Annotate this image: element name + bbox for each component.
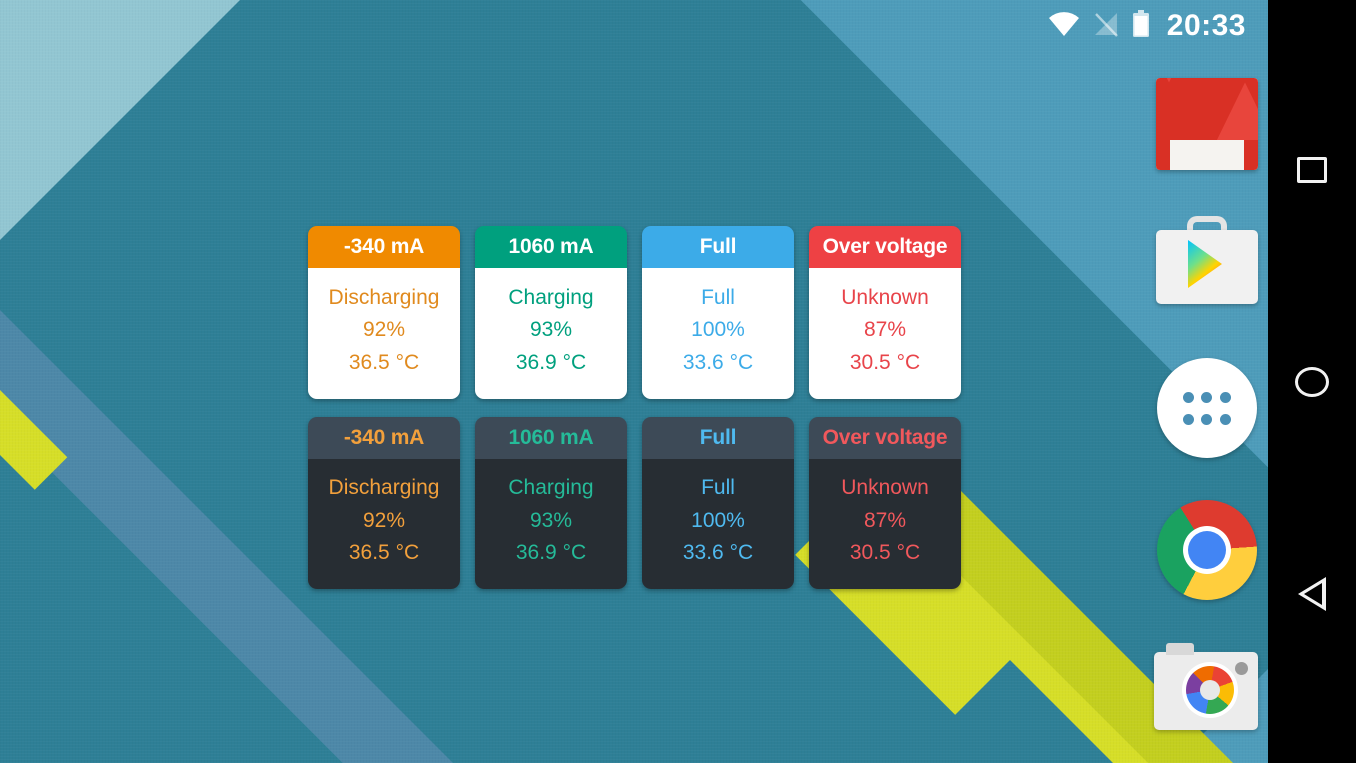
navigation-bar: [1268, 0, 1356, 763]
widget-status-text: Unknown: [841, 283, 929, 313]
widget-percent-text: 100%: [691, 315, 745, 345]
widget-header: -340 mA: [308, 226, 460, 268]
widget-temperature-text: 33.6 °C: [683, 348, 753, 378]
widget-discharging-light[interactable]: -340 mA Discharging 92% 36.5 °C: [308, 226, 460, 399]
widget-status-text: Charging: [508, 283, 593, 313]
widget-overvoltage-light[interactable]: Over voltage Unknown 87% 30.5 °C: [809, 226, 961, 399]
camera-shutter-dot: [1235, 662, 1248, 675]
home-circle: [1295, 367, 1329, 397]
status-bar: 20:33: [0, 0, 1268, 52]
camera-icon[interactable]: [1154, 652, 1258, 730]
widget-percent-text: 92%: [363, 506, 405, 536]
widget-header: Over voltage: [809, 226, 961, 268]
widget-header: 1060 mA: [475, 226, 627, 268]
widget-overvoltage-dark[interactable]: Over voltage Unknown 87% 30.5 °C: [809, 417, 961, 589]
widget-row-light: -340 mA Discharging 92% 36.5 °C 1060 mA …: [308, 226, 961, 399]
back-icon[interactable]: [1283, 565, 1341, 623]
widget-status-text: Discharging: [329, 473, 440, 503]
widget-charging-light[interactable]: 1060 mA Charging 93% 36.9 °C: [475, 226, 627, 399]
home-icon[interactable]: [1283, 353, 1341, 411]
drawer-dot: [1183, 414, 1194, 425]
battery-icon: [1132, 10, 1150, 43]
widget-status-text: Unknown: [841, 473, 929, 503]
widget-full-dark[interactable]: Full Full 100% 33.6 °C: [642, 417, 794, 589]
widget-temperature-text: 30.5 °C: [850, 538, 920, 568]
widget-temperature-text: 36.9 °C: [516, 538, 586, 568]
recents-square: [1297, 157, 1327, 183]
widget-status-text: Full: [701, 283, 735, 313]
camera-hump: [1166, 643, 1194, 655]
gmail-icon[interactable]: [1156, 78, 1258, 170]
widget-header: Full: [642, 226, 794, 268]
battery-widget-grid: -340 mA Discharging 92% 36.5 °C 1060 mA …: [308, 226, 961, 589]
widget-body: Discharging 92% 36.5 °C: [308, 268, 460, 399]
widget-body: Charging 93% 36.9 °C: [475, 268, 627, 399]
play-store-icon[interactable]: [1156, 212, 1258, 304]
widget-header: Over voltage: [809, 417, 961, 459]
widget-row-dark: -340 mA Discharging 92% 36.5 °C 1060 mA …: [308, 417, 961, 589]
widget-status-text: Full: [701, 473, 735, 503]
widget-body: Full 100% 33.6 °C: [642, 268, 794, 399]
drawer-dot: [1220, 392, 1231, 403]
widget-temperature-text: 36.9 °C: [516, 348, 586, 378]
widget-temperature-text: 36.5 °C: [349, 348, 419, 378]
widget-full-light[interactable]: Full Full 100% 33.6 °C: [642, 226, 794, 399]
back-triangle: [1298, 577, 1326, 611]
widget-temperature-text: 36.5 °C: [349, 538, 419, 568]
widget-percent-text: 87%: [864, 315, 906, 345]
widget-header: Full: [642, 417, 794, 459]
wifi-icon: [1048, 11, 1080, 42]
widget-percent-text: 93%: [530, 506, 572, 536]
widget-body: Charging 93% 36.9 °C: [475, 459, 627, 589]
widget-status-text: Charging: [508, 473, 593, 503]
widget-header: 1060 mA: [475, 417, 627, 459]
widget-discharging-dark[interactable]: -340 mA Discharging 92% 36.5 °C: [308, 417, 460, 589]
widget-body: Discharging 92% 36.5 °C: [308, 459, 460, 589]
widget-body: Unknown 87% 30.5 °C: [809, 268, 961, 399]
widget-body: Unknown 87% 30.5 °C: [809, 459, 961, 589]
drawer-dot: [1201, 392, 1212, 403]
no-sim-signal-icon: [1093, 11, 1119, 42]
chrome-core: [1188, 531, 1226, 569]
android-home-screen: 20:33 -340 mA Discharging 92% 36.5 °C 10…: [0, 0, 1356, 763]
camera-lens-core: [1200, 680, 1220, 700]
widget-body: Full 100% 33.6 °C: [642, 459, 794, 589]
drawer-dot: [1183, 392, 1194, 403]
widget-percent-text: 93%: [530, 315, 572, 345]
app-drawer-icon[interactable]: [1157, 358, 1257, 458]
widget-temperature-text: 30.5 °C: [850, 348, 920, 378]
status-bar-clock: 20:33: [1167, 11, 1246, 41]
widget-status-text: Discharging: [329, 283, 440, 313]
widget-percent-text: 87%: [864, 506, 906, 536]
app-dock: [1148, 0, 1268, 763]
recents-icon[interactable]: [1283, 141, 1341, 199]
widget-header: -340 mA: [308, 417, 460, 459]
widget-percent-text: 100%: [691, 506, 745, 536]
widget-temperature-text: 33.6 °C: [683, 538, 753, 568]
chrome-icon[interactable]: [1157, 500, 1257, 600]
drawer-dot: [1220, 414, 1231, 425]
drawer-dot: [1201, 414, 1212, 425]
widget-percent-text: 92%: [363, 315, 405, 345]
widget-charging-dark[interactable]: 1060 mA Charging 93% 36.9 °C: [475, 417, 627, 589]
